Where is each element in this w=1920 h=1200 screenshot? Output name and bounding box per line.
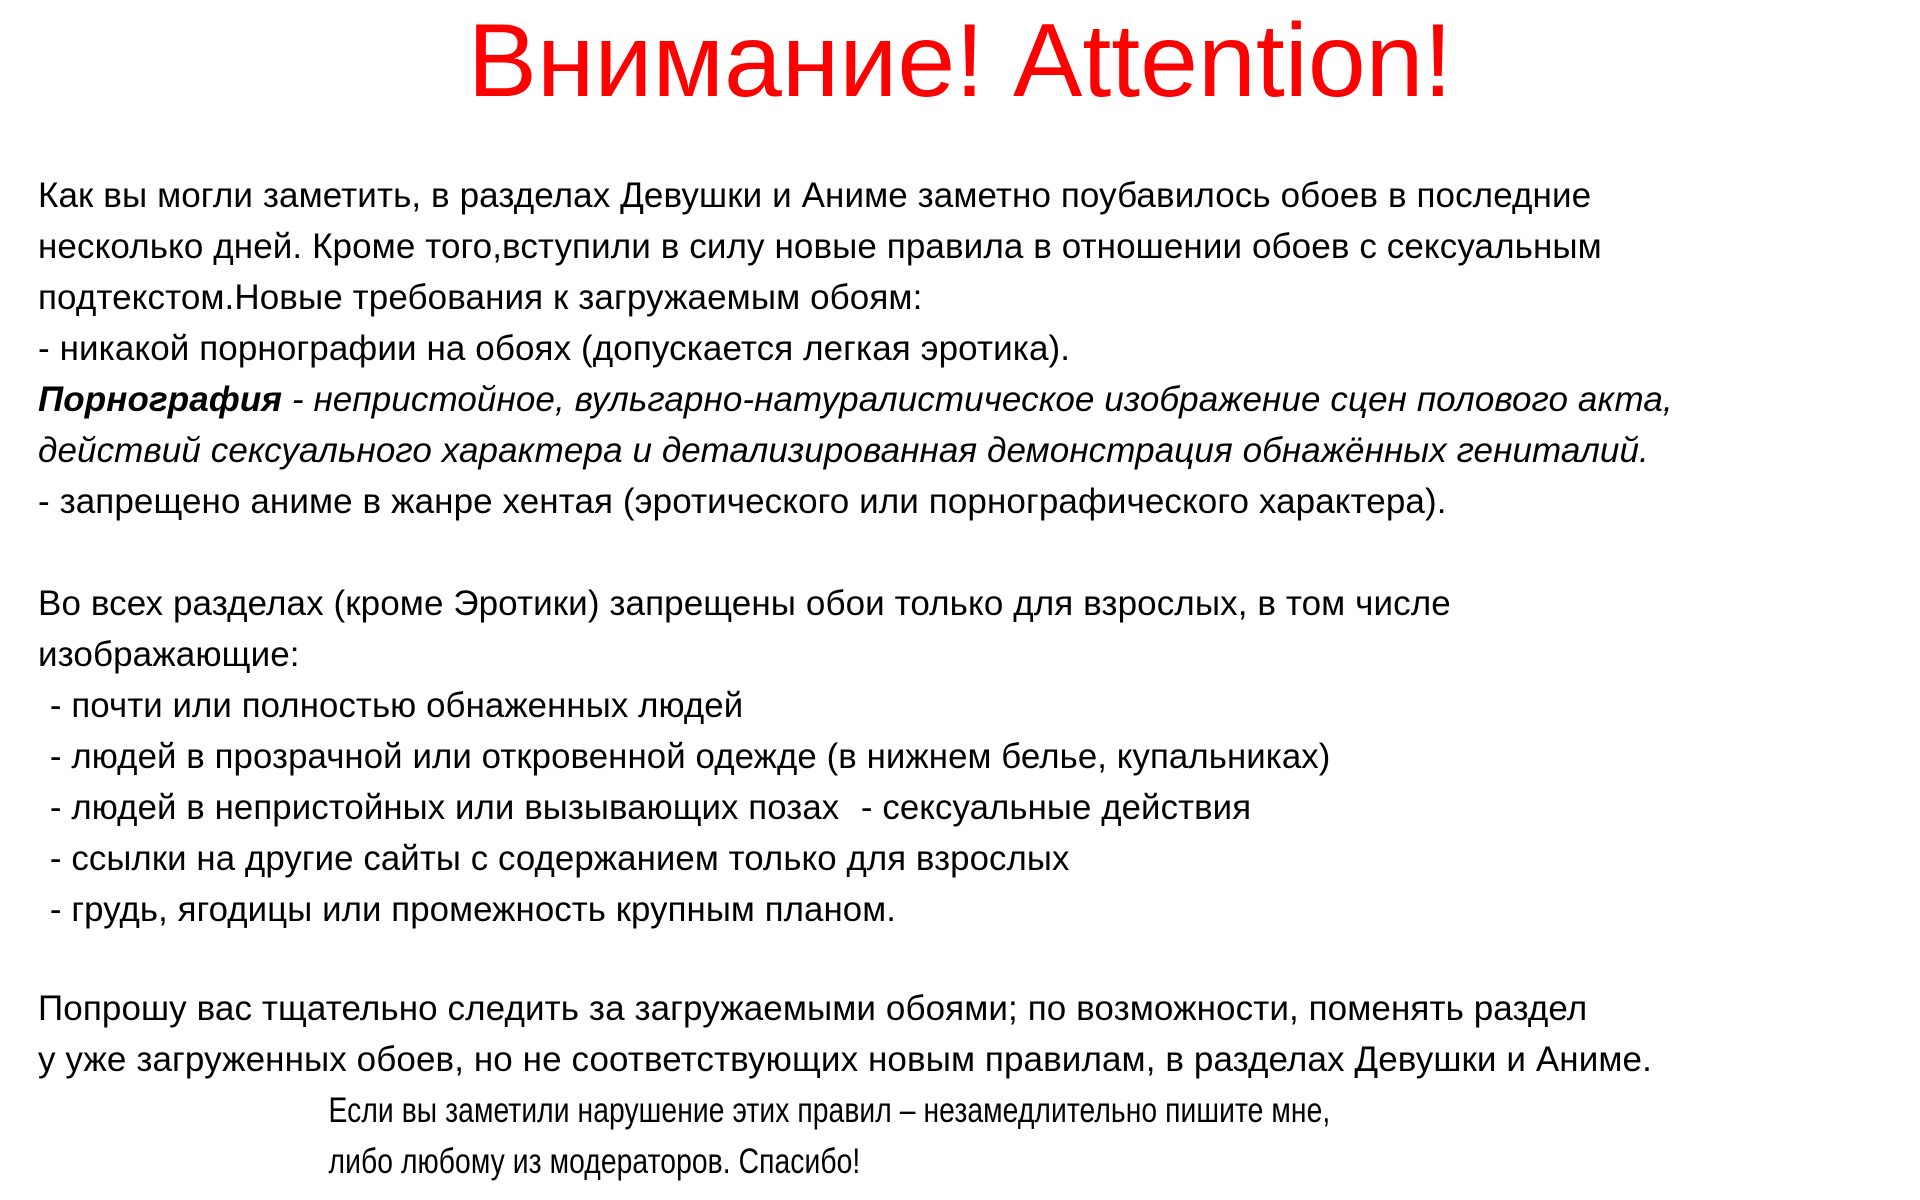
definition-line-1-rest: - непристойное, вульгарно-натуралистичес… [282, 380, 1673, 419]
notice-page: Внимание! Attention! Как вы могли замети… [0, 0, 1920, 1200]
paragraph1-line-1: Как вы могли заметить, в разделах Девушк… [38, 170, 1904, 221]
bullet-item-3: - людей в непристойных или вызывающих по… [38, 782, 839, 833]
rule-no-pornography: - никакой порнографии на обоях (допускае… [38, 323, 1904, 374]
paragraph1-line-2: несколько дней. Кроме того,вступили в си… [38, 221, 1904, 272]
paragraph2-intro-line-1: Во всех разделах (кроме Эротики) запреще… [38, 578, 1904, 629]
notice-body: Как вы могли заметить, в разделах Девушк… [38, 170, 1904, 1187]
bullet-item-1: - почти или полностью обнаженных людей [38, 680, 743, 731]
bullet-item-2: - людей в прозрачной или откровенной оде… [38, 731, 1330, 782]
closing-line-1: Если вы заметили нарушение этих правил –… [38, 1085, 1330, 1136]
bullet-item-5: - ссылки на другие сайты с содержанием т… [38, 833, 1069, 884]
block-spacer-1 [38, 527, 1904, 578]
definition-line-2: действий сексуального характера и детали… [38, 425, 1904, 476]
page-title: Внимание! Attention! [0, 2, 1920, 120]
paragraph1-line-3: подтекстом.Новые требования к загружаемы… [38, 272, 1904, 323]
definition-line-1: Порнография - непристойное, вульгарно-на… [38, 374, 1904, 425]
bullet-item-6: - грудь, ягодицы или промежность крупным… [38, 884, 896, 935]
paragraph3-line-2: у уже загруженных обоев, но не соответст… [38, 1034, 1904, 1085]
bullet-item-4: - сексуальные действия [849, 782, 1251, 833]
paragraph2-intro-line-2: изображающие: [38, 629, 1904, 680]
closing-line-2: либо любому из модераторов. Спасибо! [38, 1136, 860, 1187]
block-spacer-2 [38, 935, 1904, 983]
rule-no-hentai: - запрещено аниме в жанре хентая (эротич… [38, 476, 1904, 527]
paragraph3-line-1: Попрошу вас тщательно следить за загружа… [38, 983, 1904, 1034]
definition-term: Порнография [38, 380, 282, 419]
